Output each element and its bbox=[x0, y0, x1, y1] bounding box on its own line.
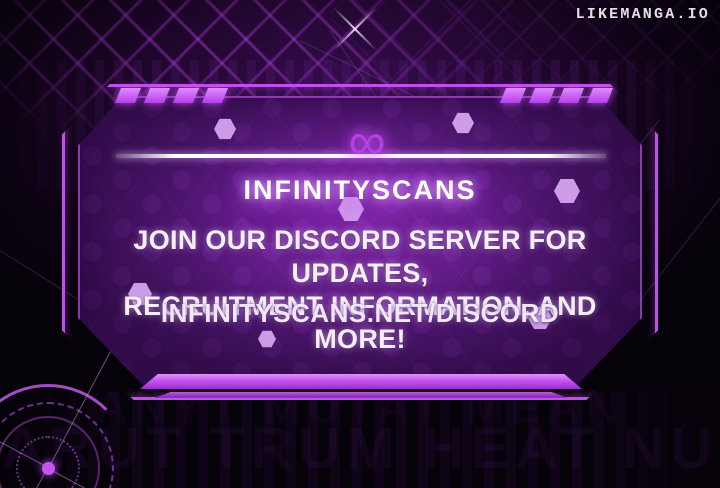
promo-banner: ANYT MUTAT MEAN ARUT TRUM HEAT NU ∞ bbox=[0, 0, 720, 488]
bottom-accent-bar-secondary bbox=[154, 392, 568, 398]
radar-hud-icon bbox=[0, 378, 138, 488]
promo-message-line-1: JOIN OUR DISCORD SERVER FOR UPDATES, bbox=[78, 224, 642, 290]
infinity-icon: ∞ bbox=[336, 122, 398, 162]
site-watermark: LIKEMANGA.IO bbox=[576, 6, 710, 23]
discord-url[interactable]: INFINITYSCANS.NET/DISCORD bbox=[78, 298, 642, 329]
brand-title: INFINITYSCANS bbox=[78, 175, 642, 206]
x-crosshair-icon bbox=[325, 0, 385, 58]
promo-message: JOIN OUR DISCORD SERVER FOR UPDATES, REC… bbox=[78, 224, 642, 356]
